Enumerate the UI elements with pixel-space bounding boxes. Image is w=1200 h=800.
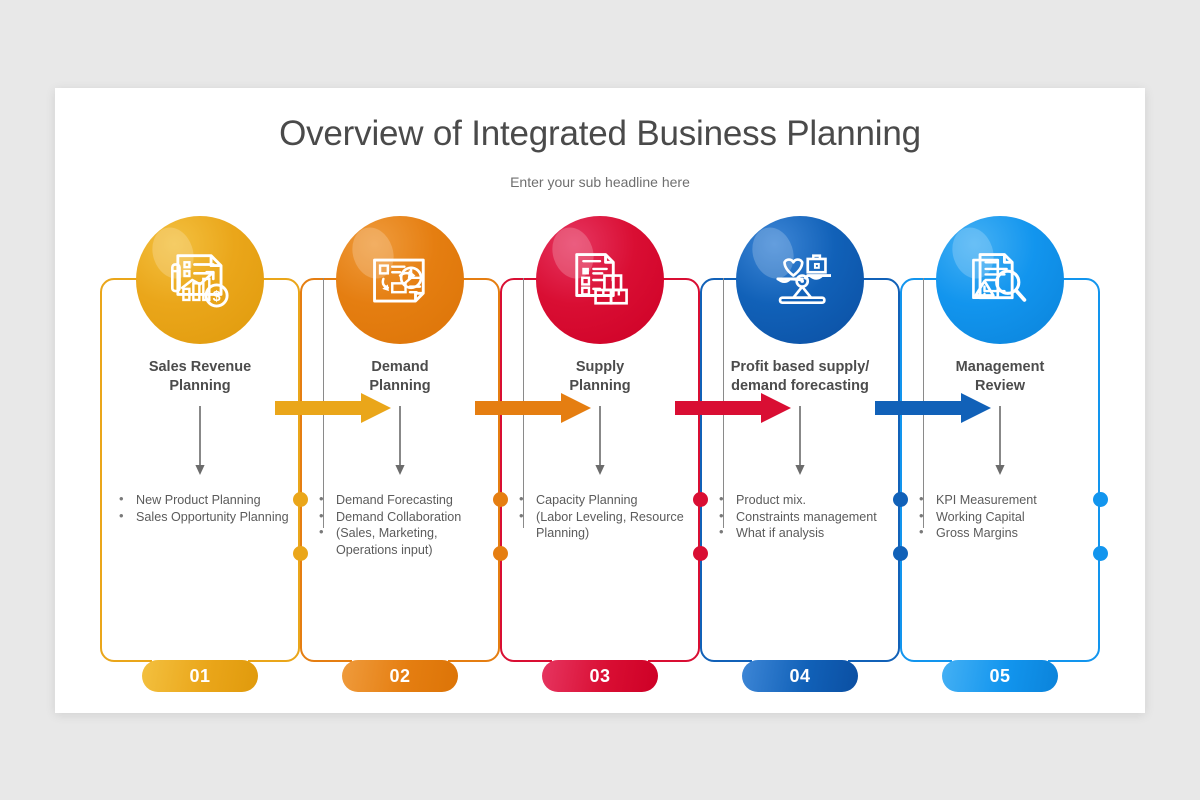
step-icon-circle[interactable] xyxy=(736,216,864,344)
bullet-item: Demand Collaboration xyxy=(314,509,490,526)
flow-arrow-icon xyxy=(875,390,991,431)
step-number-badge[interactable]: 05 xyxy=(942,660,1058,692)
bullet-item: Working Capital xyxy=(914,509,1090,526)
bullet-item: What if analysis xyxy=(714,525,890,542)
process-step-05[interactable]: ManagementReviewKPI MeasurementWorking C… xyxy=(900,216,1100,686)
step-down-arrow-icon xyxy=(593,406,607,481)
bullet-item: (Sales, Marketing, Operations input) xyxy=(314,525,490,558)
bullet-item: Capacity Planning xyxy=(514,492,690,509)
step-connector-dot xyxy=(1093,492,1108,507)
bullet-item: Sales Opportunity Planning xyxy=(114,509,290,526)
step-bullet-list: Demand ForecastingDemand Collaboration(S… xyxy=(314,492,490,558)
step-number-badge[interactable]: 02 xyxy=(342,660,458,692)
slide-canvas: Overview of Integrated Business Planning… xyxy=(55,88,1145,713)
step-bullet-list: New Product PlanningSales Opportunity Pl… xyxy=(114,492,290,525)
step-connector-dot xyxy=(893,492,908,507)
step-title-line2: Planning xyxy=(100,377,300,396)
step-connector-dot xyxy=(293,546,308,561)
bullet-item: Gross Margins xyxy=(914,525,1090,542)
step-title-line1: Supply xyxy=(500,358,700,377)
step-title-line1: Sales Revenue xyxy=(100,358,300,377)
step-number-badge[interactable]: 01 xyxy=(142,660,258,692)
document-bar-chart-dollar-icon xyxy=(169,249,231,311)
flow-arrow-icon xyxy=(675,390,791,431)
step-down-arrow-icon xyxy=(993,406,1007,481)
page-subtitle: Enter your sub headline here xyxy=(55,174,1145,190)
step-icon-circle[interactable] xyxy=(136,216,264,344)
step-icon-circle[interactable] xyxy=(536,216,664,344)
process-step-01[interactable]: Sales RevenuePlanningNew Product Plannin… xyxy=(100,216,300,686)
step-bullet-list: Capacity Planning(Labor Leveling, Resour… xyxy=(514,492,690,542)
step-connector-dot xyxy=(493,546,508,561)
dashboard-pie-chart-icon xyxy=(369,249,431,311)
step-down-arrow-icon xyxy=(393,406,407,481)
step-number-badge[interactable]: 04 xyxy=(742,660,858,692)
process-step-02[interactable]: DemandPlanningDemand ForecastingDemand C… xyxy=(300,216,500,686)
bullet-item: (Labor Leveling, Resource Planning) xyxy=(514,509,690,542)
flow-arrow-icon xyxy=(475,390,591,431)
step-bullet-list: KPI MeasurementWorking CapitalGross Marg… xyxy=(914,492,1090,542)
balance-scale-heart-briefcase-icon xyxy=(769,249,831,311)
step-connector-dot xyxy=(693,546,708,561)
step-down-arrow-icon xyxy=(193,406,207,481)
bullet-item: KPI Measurement xyxy=(914,492,1090,509)
step-title-line1: Demand xyxy=(300,358,500,377)
flow-arrow-icon xyxy=(275,390,391,431)
step-icon-circle[interactable] xyxy=(936,216,1064,344)
step-title-line1: Profit based supply/ xyxy=(700,358,900,377)
bullet-item: New Product Planning xyxy=(114,492,290,509)
step-connector-dot xyxy=(293,492,308,507)
step-connector-dot xyxy=(893,546,908,561)
bullet-item: Demand Forecasting xyxy=(314,492,490,509)
document-magnifier-warning-icon xyxy=(969,249,1031,311)
bullet-item: Product mix. xyxy=(714,492,890,509)
page-title: Overview of Integrated Business Planning xyxy=(55,114,1145,154)
step-number-badge[interactable]: 03 xyxy=(542,660,658,692)
step-title: Sales RevenuePlanning xyxy=(100,358,300,396)
step-connector-dot xyxy=(493,492,508,507)
step-icon-circle[interactable] xyxy=(336,216,464,344)
step-title-line1: Management xyxy=(900,358,1100,377)
step-down-arrow-icon xyxy=(793,406,807,481)
step-connector-dot xyxy=(693,492,708,507)
process-step-03[interactable]: SupplyPlanningCapacity Planning(Labor Le… xyxy=(500,216,700,686)
step-bullet-list: Product mix.Constraints managementWhat i… xyxy=(714,492,890,542)
process-step-04[interactable]: Profit based supply/demand forecastingPr… xyxy=(700,216,900,686)
checklist-boxes-icon xyxy=(569,249,631,311)
bullet-item: Constraints management xyxy=(714,509,890,526)
step-connector-dot xyxy=(1093,546,1108,561)
